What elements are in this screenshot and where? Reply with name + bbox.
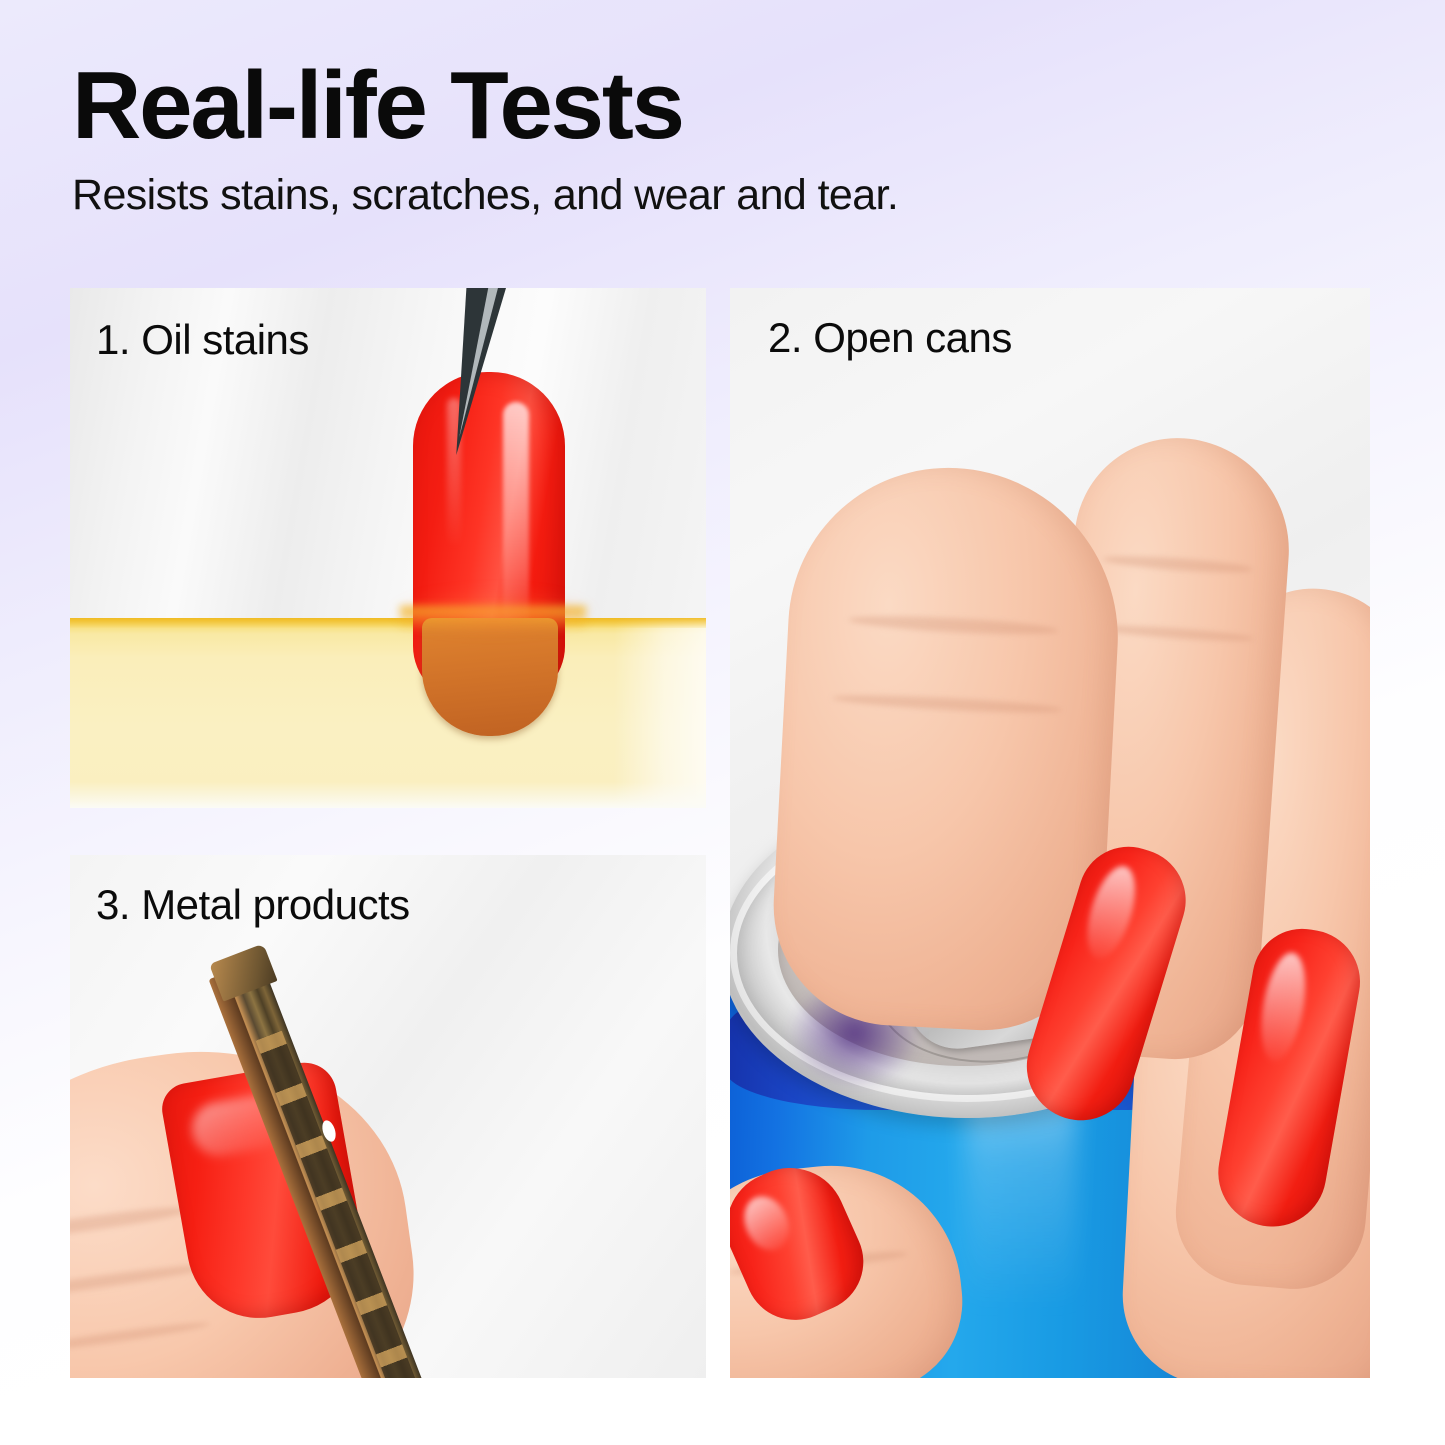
tweezers-icon — [468, 288, 538, 458]
skin-crease — [1094, 623, 1254, 644]
panel-label-oil-stains: 1. Oil stains — [96, 316, 309, 364]
infographic-canvas: Real-life Tests Resists stains, scratche… — [0, 0, 1445, 1445]
skin-crease — [70, 1319, 211, 1355]
panel-metal-products: 3. Metal products — [70, 855, 706, 1378]
nail-gloss-highlight — [736, 1189, 797, 1257]
nail-gloss-highlight — [1078, 861, 1144, 965]
skin-crease — [1103, 553, 1253, 575]
panel-label-metal-products: 3. Metal products — [96, 881, 410, 929]
oil-liquid — [70, 618, 706, 808]
nail-gloss-highlight — [1254, 949, 1312, 1064]
panel-oil-stains: 1. Oil stains — [70, 288, 706, 808]
skin-crease — [832, 692, 1062, 716]
oil-liquid-bottom-fade — [70, 782, 706, 808]
skin-crease — [848, 613, 1058, 638]
header: Real-life Tests Resists stains, scratche… — [72, 58, 1372, 219]
page-subtitle: Resists stains, scratches, and wear and … — [72, 172, 1372, 219]
page-title: Real-life Tests — [72, 58, 1372, 154]
oil-liquid-highlight — [614, 618, 706, 808]
panel-label-open-cans: 2. Open cans — [768, 314, 1012, 362]
skin-crease — [70, 1202, 195, 1244]
oil-refraction-glow — [388, 588, 598, 636]
panel-open-cans: 2. Open cans — [730, 288, 1370, 1378]
